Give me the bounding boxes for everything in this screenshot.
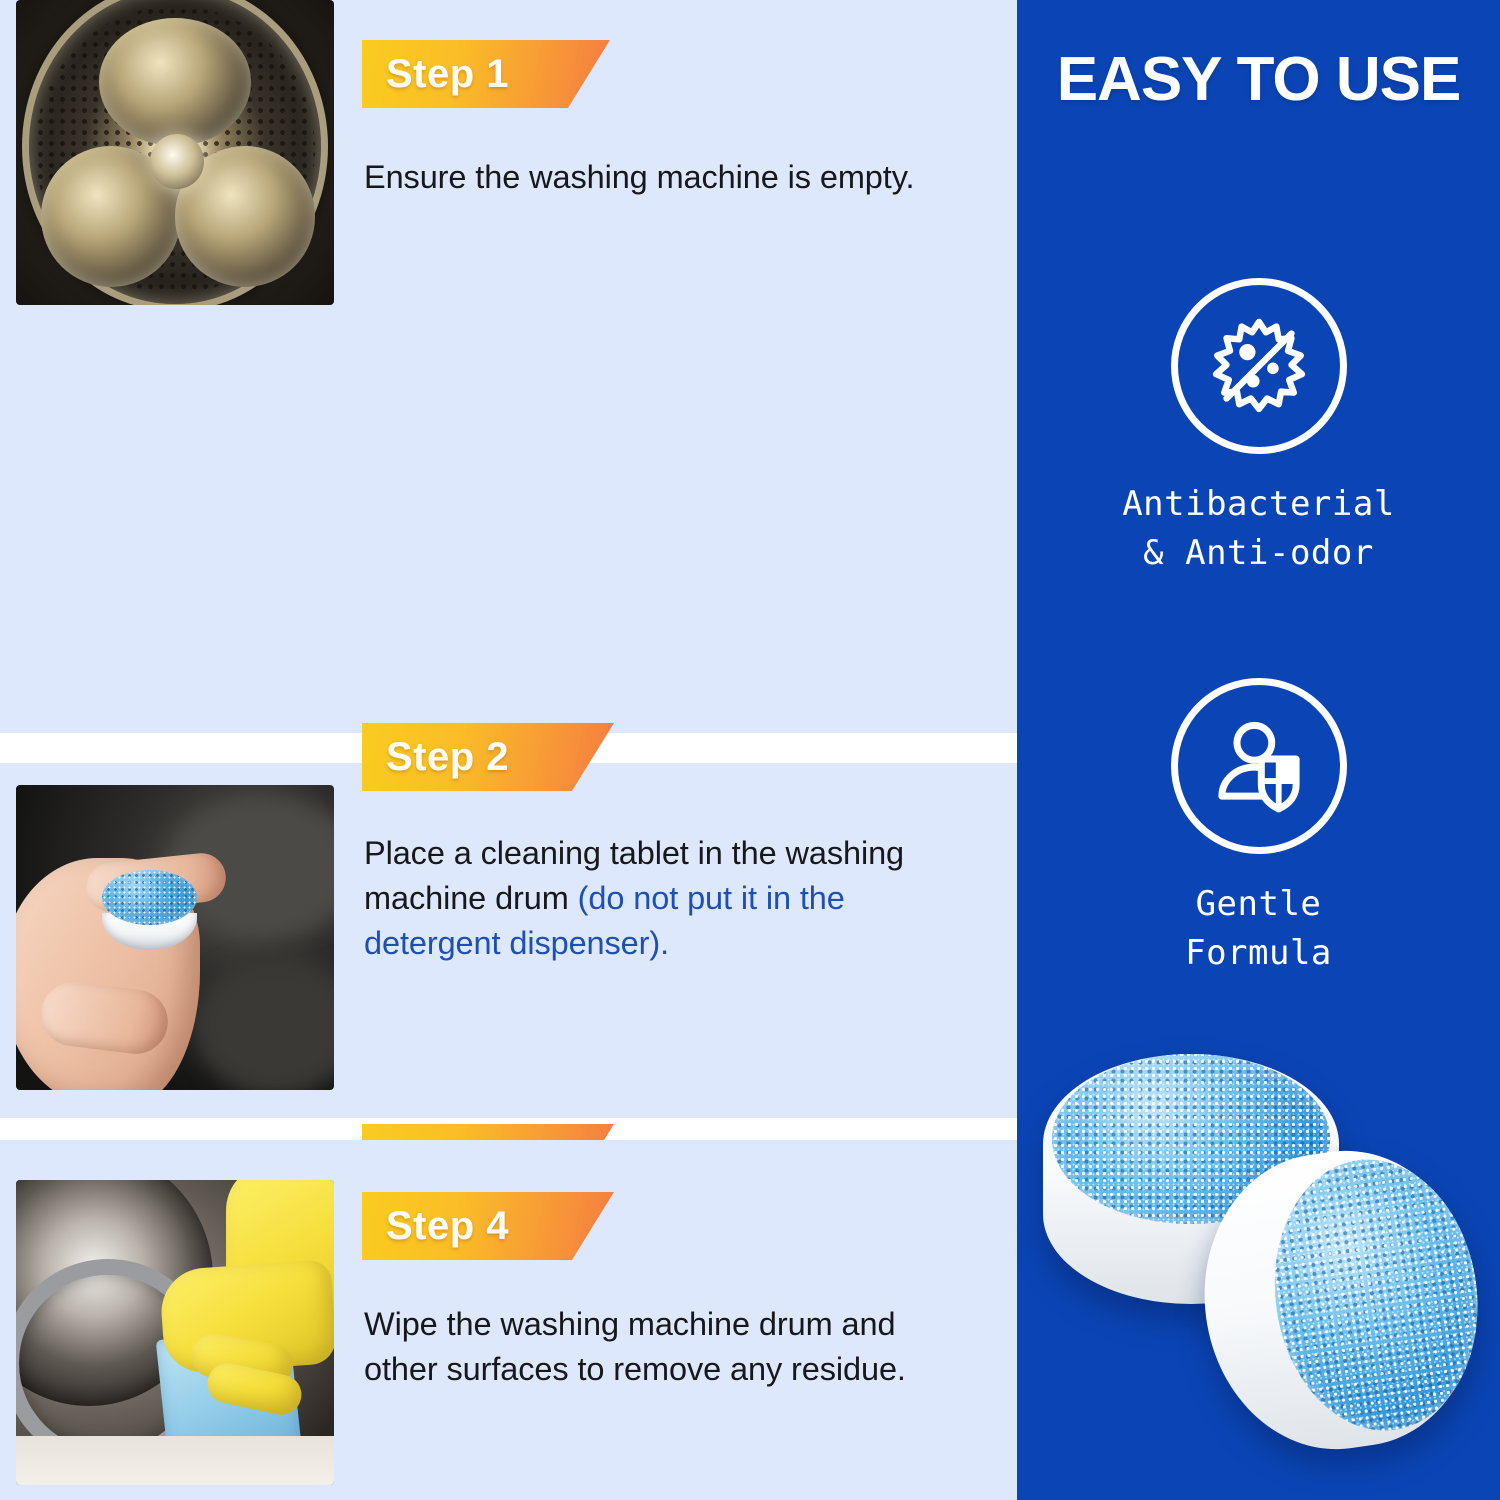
feature-gentle-formula-label-line2: Formula: [1017, 929, 1500, 978]
step-row-4: Step 4 Wipe the washing machine drum and…: [0, 1140, 1017, 1500]
drum-lobe-top: [99, 18, 252, 146]
step-1-photo: [16, 0, 334, 305]
step-2-photo-content: [16, 785, 334, 1090]
infographic-page: Step 1 Ensure the washing machine is emp…: [0, 0, 1500, 1500]
feature-gentle-formula-label: Gentle Formula: [1017, 880, 1500, 979]
two-effervescent-cleaning-tablets-photo: [1037, 1040, 1487, 1480]
step-1-badge: Step 1: [362, 40, 610, 108]
background-blur-2: [194, 956, 334, 1090]
page-title: EASY TO USE: [1017, 44, 1500, 115]
step-row-1: Step 1 Ensure the washing machine is emp…: [0, 0, 1017, 733]
feature-gentle-formula-label-line1: Gentle: [1017, 880, 1500, 929]
feature-antibacterial-label: Antibacterial & Anti-odor: [1017, 480, 1500, 579]
step-4-text-main: Wipe the washing machine drum and other …: [364, 1306, 906, 1387]
feature-gentle-formula: Gentle Formula: [1017, 678, 1500, 979]
feature-antibacterial-label-line1: Antibacterial: [1017, 480, 1500, 529]
tablet-front-blue-surface: [1257, 1146, 1494, 1444]
step-1-photo-content: [16, 0, 334, 305]
step-2-photo: [16, 785, 334, 1090]
step-1-badge-label: Step 1: [386, 52, 509, 97]
step-2-badge-label: Step 2: [386, 735, 509, 780]
antibacterial-germ-slash-icon: [1171, 278, 1347, 454]
washer-front-panel: [16, 1436, 334, 1485]
step-1-text: Ensure the washing machine is empty.: [364, 155, 944, 200]
step-4-badge-label: Step 4: [386, 1204, 509, 1249]
step-2-text: Place a cleaning tablet in the washing m…: [364, 831, 976, 966]
steps-panel: Step 1 Ensure the washing machine is emp…: [0, 0, 1017, 1500]
step-2-badge: Step 2: [362, 723, 614, 791]
feature-antibacterial-label-line2: & Anti-odor: [1017, 529, 1500, 578]
tablet-blue-face: [102, 870, 197, 925]
tablet-front: [1186, 1135, 1497, 1466]
step-4-photo: [16, 1180, 334, 1485]
step-4-text: Wipe the washing machine drum and other …: [364, 1302, 964, 1392]
step-4-badge: Step 4: [362, 1192, 614, 1260]
step-row-2: Step 2 Place a cleaning tablet in the wa…: [0, 763, 1017, 1118]
step-1-text-main: Ensure the washing machine is empty.: [364, 159, 914, 195]
feature-antibacterial: Antibacterial & Anti-odor: [1017, 278, 1500, 579]
person-shield-icon: [1171, 678, 1347, 854]
drum-center-hub: [150, 134, 204, 189]
step-4-photo-content: [16, 1180, 334, 1485]
